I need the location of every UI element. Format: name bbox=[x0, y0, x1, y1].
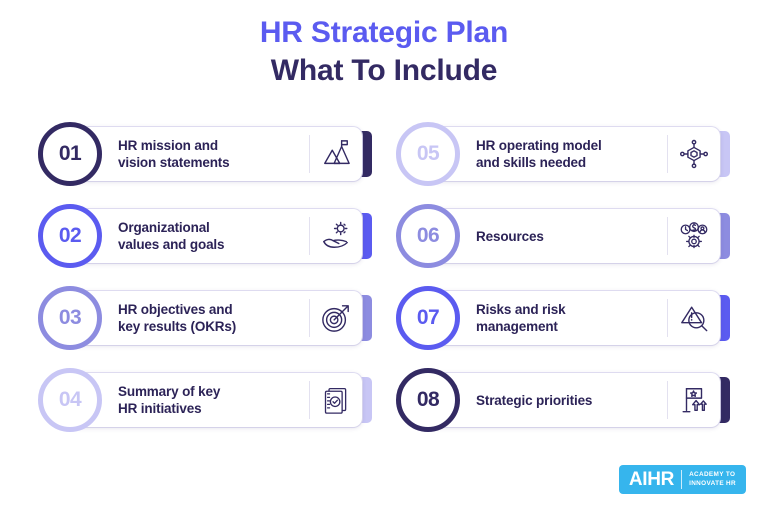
mountain-flag-icon bbox=[310, 133, 362, 175]
list-item[interactable]: HR objectives and key results (OKRs) 0 bbox=[38, 286, 372, 350]
item-number-circle: 03 bbox=[38, 286, 102, 350]
right-column: HR operating model and skills needed bbox=[396, 122, 730, 432]
list-item[interactable]: HR operating model and skills needed bbox=[396, 122, 730, 186]
item-card[interactable]: Risks and risk management bbox=[428, 291, 720, 345]
gears-resources-icon bbox=[668, 215, 720, 257]
item-number: 01 bbox=[59, 142, 81, 166]
target-dart-icon bbox=[310, 297, 362, 339]
list-item[interactable]: HR mission and vision statements 01 bbox=[38, 122, 372, 186]
logo-tagline: ACADEMY TO INNOVATE HR bbox=[689, 471, 736, 488]
item-card[interactable]: Summary of key HR initiatives bbox=[70, 373, 362, 427]
logo-separator bbox=[681, 470, 682, 489]
aihr-logo[interactable]: AIHR ACADEMY TO INNOVATE HR bbox=[619, 465, 746, 494]
item-card[interactable]: HR objectives and key results (OKRs) bbox=[70, 291, 362, 345]
left-column: HR mission and vision statements 01 bbox=[38, 122, 372, 432]
item-label: Summary of key HR initiatives bbox=[70, 383, 309, 417]
list-item[interactable]: Organizational values and goals bbox=[38, 204, 372, 268]
item-number-circle: 06 bbox=[396, 204, 460, 268]
item-card[interactable]: Resources bbox=[428, 209, 720, 263]
risk-magnifier-icon bbox=[668, 297, 720, 339]
logo-wordmark: AIHR bbox=[629, 470, 674, 489]
page-title: HR Strategic Plan What To Include bbox=[0, 14, 768, 90]
item-number-circle: 08 bbox=[396, 368, 460, 432]
list-item[interactable]: Resources bbox=[396, 204, 730, 268]
flag-arrows-icon bbox=[668, 379, 720, 421]
item-label: HR operating model and skills needed bbox=[428, 137, 667, 171]
item-number: 03 bbox=[59, 306, 81, 330]
item-card[interactable]: HR mission and vision statements bbox=[70, 127, 362, 181]
list-item[interactable]: Strategic priorities 08 bbox=[396, 368, 730, 432]
item-number: 08 bbox=[417, 388, 439, 412]
infographic-root: HR Strategic Plan What To Include HR mis… bbox=[0, 0, 768, 510]
item-label: Strategic priorities bbox=[428, 392, 667, 409]
item-card[interactable]: Organizational values and goals bbox=[70, 209, 362, 263]
item-number-circle: 02 bbox=[38, 204, 102, 268]
item-number: 02 bbox=[59, 224, 81, 248]
item-card[interactable]: HR operating model and skills needed bbox=[428, 127, 720, 181]
item-number: 04 bbox=[59, 388, 81, 412]
item-label: Resources bbox=[428, 228, 667, 245]
item-label: Organizational values and goals bbox=[70, 219, 309, 253]
item-label: HR objectives and key results (OKRs) bbox=[70, 301, 309, 335]
hand-star-icon bbox=[310, 215, 362, 257]
item-number: 05 bbox=[417, 142, 439, 166]
list-item[interactable]: Summary of key HR initiatives 04 bbox=[38, 368, 372, 432]
item-number-circle: 04 bbox=[38, 368, 102, 432]
item-number: 07 bbox=[417, 306, 439, 330]
title-line-primary: HR Strategic Plan bbox=[0, 14, 768, 52]
item-number-circle: 07 bbox=[396, 286, 460, 350]
item-card[interactable]: Strategic priorities bbox=[428, 373, 720, 427]
list-item[interactable]: Risks and risk management 07 bbox=[396, 286, 730, 350]
item-number: 06 bbox=[417, 224, 439, 248]
network-node-icon bbox=[668, 133, 720, 175]
item-label: HR mission and vision statements bbox=[70, 137, 309, 171]
checklist-document-icon bbox=[310, 379, 362, 421]
item-number-circle: 05 bbox=[396, 122, 460, 186]
item-number-circle: 01 bbox=[38, 122, 102, 186]
title-line-secondary: What To Include bbox=[0, 52, 768, 90]
items-columns: HR mission and vision statements 01 bbox=[0, 122, 768, 432]
item-label: Risks and risk management bbox=[428, 301, 667, 335]
